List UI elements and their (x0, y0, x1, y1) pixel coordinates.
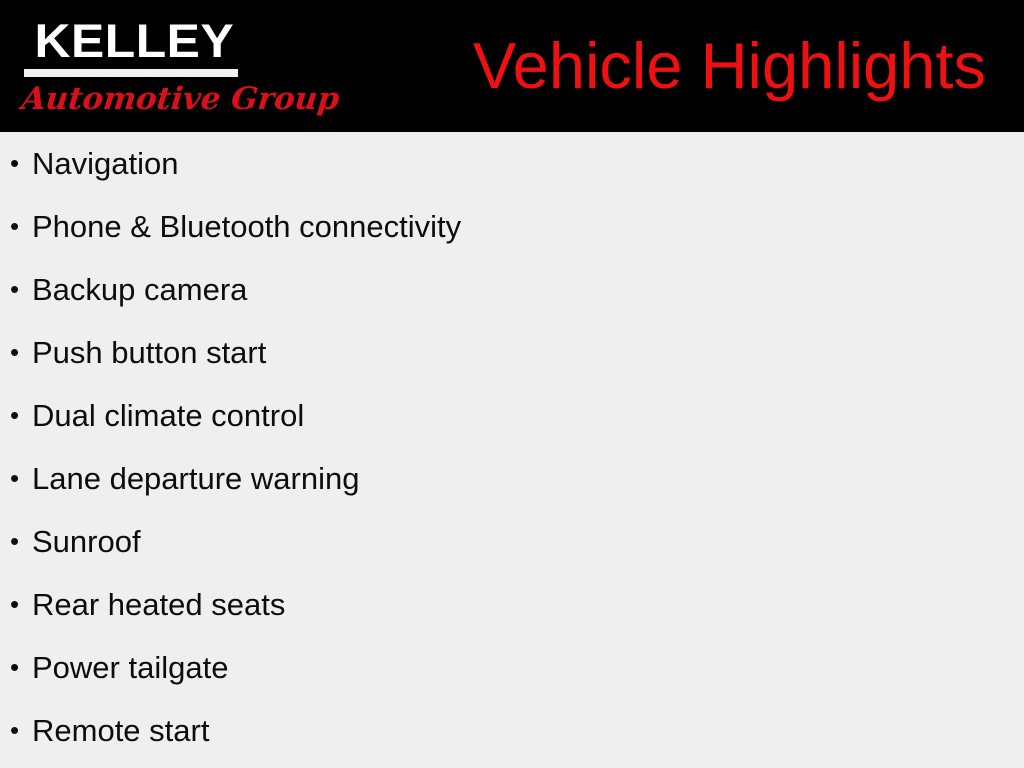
bullet-icon: • (10, 384, 24, 447)
bullet-icon: • (10, 321, 24, 384)
list-item: • Remote start (0, 699, 1024, 762)
slide-header: KELLEY Automotive Group Vehicle Highligh… (0, 0, 1024, 132)
list-item-label: Backup camera (32, 258, 247, 321)
logo-wordmark-kelley: KELLEY (22, 16, 247, 66)
list-item-label: Sunroof (32, 510, 141, 573)
bullet-icon: • (10, 258, 24, 321)
list-item: • Navigation (0, 132, 1024, 195)
page-title: Vehicle Highlights (473, 22, 986, 110)
list-item: • Power tailgate (0, 636, 1024, 699)
vehicle-highlights-list: • Navigation • Phone & Bluetooth connect… (0, 132, 1024, 768)
vehicle-highlights-slide: KELLEY Automotive Group Vehicle Highligh… (0, 0, 1024, 768)
list-item-label: Power tailgate (32, 636, 228, 699)
list-item-label: Navigation (32, 132, 178, 195)
list-item: • Phone & Bluetooth connectivity (0, 195, 1024, 258)
logo-divider-rule (24, 69, 238, 77)
list-item: • Sunroof (0, 510, 1024, 573)
list-item: • Backup camera (0, 258, 1024, 321)
bullet-icon: • (10, 510, 24, 573)
bullet-icon: • (10, 447, 24, 510)
list-item: • Rear heated seats (0, 573, 1024, 636)
bullet-icon: • (10, 132, 24, 195)
list-item-label: Dual climate control (32, 384, 304, 447)
bullet-icon: • (10, 573, 24, 636)
list-item-label: Push button start (32, 321, 266, 384)
list-item: • Push button start (0, 321, 1024, 384)
list-item-label: Lane departure warning (32, 447, 359, 510)
logo-script-automotive-group: Automotive Group (20, 78, 242, 120)
list-item: • Lane departure warning (0, 447, 1024, 510)
kelley-automotive-group-logo: KELLEY Automotive Group (22, 16, 252, 116)
bullet-icon: • (10, 636, 24, 699)
bullet-icon: • (10, 699, 24, 762)
list-item-label: Rear heated seats (32, 573, 285, 636)
bullet-icon: • (10, 195, 24, 258)
list-item-label: Remote start (32, 699, 209, 762)
list-item: • Dual climate control (0, 384, 1024, 447)
list-item-label: Phone & Bluetooth connectivity (32, 195, 461, 258)
